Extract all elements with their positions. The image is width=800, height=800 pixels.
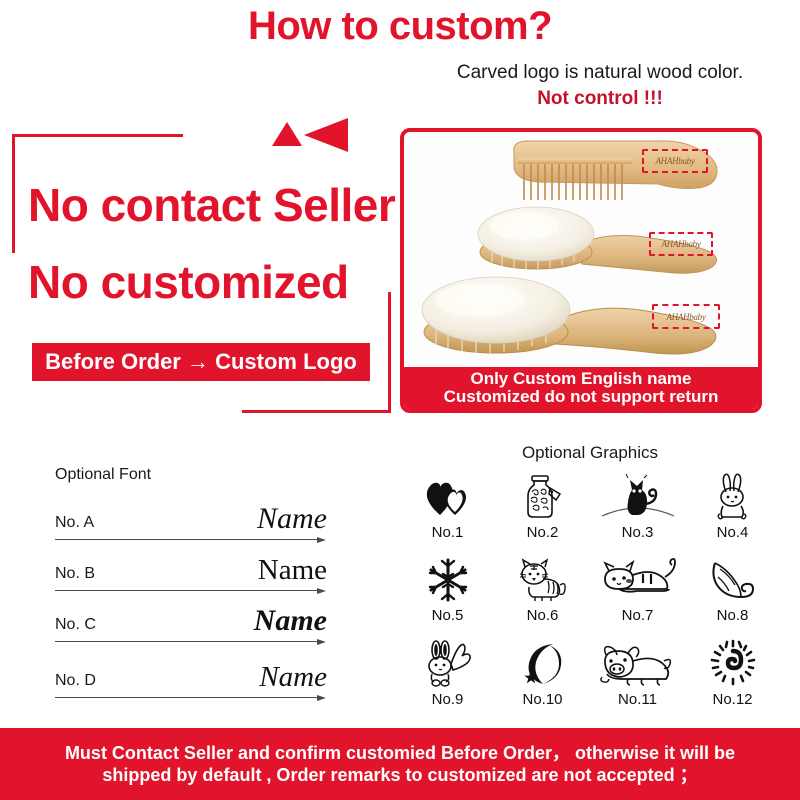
crescent-moon-star-icon xyxy=(519,639,567,689)
graphic-label-1: No.1 xyxy=(432,524,464,541)
sun-spiral-icon xyxy=(707,639,759,689)
graphic-option-7[interactable]: No.7 xyxy=(590,555,685,638)
font-row-b-label: No. B xyxy=(55,565,95,583)
tiger-icon xyxy=(515,555,571,605)
font-row-c-label: No. C xyxy=(55,616,96,634)
before-order-badge: Before Order → Custom Logo xyxy=(32,343,370,381)
engrave-area-comb: AHAHbaby xyxy=(642,149,708,173)
graphic-option-10[interactable]: No.10 xyxy=(495,639,590,722)
piglet-icon xyxy=(598,639,678,689)
snowflake-icon xyxy=(425,555,471,605)
graphic-option-3[interactable]: No.3 xyxy=(590,472,685,555)
graphic-option-4[interactable]: No.4 xyxy=(685,472,780,555)
headline-no-customized: No customized xyxy=(28,255,349,309)
graphic-label-3: No.3 xyxy=(622,524,654,541)
waving-bunny-icon xyxy=(422,639,474,689)
graphic-label-4: No.4 xyxy=(717,524,749,541)
engrave-text-small-brush: AHAHbaby xyxy=(661,239,700,249)
optional-graphics-title: Optional Graphics xyxy=(440,443,740,463)
font-row-d-rule xyxy=(55,697,320,698)
not-control-warning: Not control !!! xyxy=(410,88,790,110)
graphic-option-1[interactable]: No.1 xyxy=(400,472,495,555)
graphic-option-6[interactable]: No.6 xyxy=(495,555,590,638)
infographic-page: How to custom? Carved logo is natural wo… xyxy=(0,0,800,800)
panel-caption-line-2: Customized do not support return xyxy=(444,388,719,406)
panel-caption-line-1: Only Custom English name xyxy=(470,370,691,388)
banner-line-1: Must Contact Seller and confirm customie… xyxy=(65,742,735,765)
engrave-text-large-brush: AHAHbaby xyxy=(666,312,705,322)
bottom-warning-banner: Must Contact Seller and confirm customie… xyxy=(0,728,800,800)
graphic-option-12[interactable]: No.12 xyxy=(685,639,780,722)
font-row-b[interactable]: No. B Name xyxy=(55,541,331,591)
font-sample-d: Name xyxy=(259,661,327,694)
arrow-right-icon xyxy=(317,695,326,701)
engrave-area-large-brush: AHAHbaby xyxy=(652,304,720,329)
graphic-option-11[interactable]: No.11 xyxy=(590,639,685,722)
graphic-label-12: No.12 xyxy=(712,691,752,708)
product-photo-panel: AHAHbaby xyxy=(400,128,762,413)
graphic-option-2[interactable]: No.2 xyxy=(495,472,590,555)
font-row-c[interactable]: No. C Name xyxy=(55,592,331,642)
font-row-c-rule xyxy=(55,641,320,642)
arrow-right-icon xyxy=(317,639,326,645)
graphic-label-8: No.8 xyxy=(717,607,749,624)
angel-wing-icon xyxy=(707,555,759,605)
graphic-label-7: No.7 xyxy=(622,607,654,624)
engrave-text-comb: AHAHbaby xyxy=(655,156,694,166)
graphic-option-5[interactable]: No.5 xyxy=(400,555,495,638)
font-row-a-rule xyxy=(55,539,320,540)
optional-font-title: Optional Font xyxy=(55,466,151,484)
font-sample-b: Name xyxy=(258,554,327,587)
banner-line-2: shipped by default , Order remarks to cu… xyxy=(102,764,697,787)
graphic-option-8[interactable]: No.8 xyxy=(685,555,780,638)
font-row-d[interactable]: No. D Name xyxy=(55,648,331,698)
page-title: How to custom? xyxy=(0,4,800,49)
carved-logo-note: Carved logo is natural wood color. xyxy=(410,62,790,84)
graphic-label-10: No.10 xyxy=(522,691,562,708)
font-row-b-rule xyxy=(55,590,320,591)
triangle-up-icon xyxy=(272,122,302,146)
product-photo: AHAHbaby xyxy=(404,132,758,370)
font-sample-c: Name xyxy=(254,604,327,638)
standing-bunny-icon xyxy=(711,472,755,522)
font-row-d-label: No. D xyxy=(55,672,96,690)
graphic-label-6: No.6 xyxy=(527,607,559,624)
two-hearts-icon xyxy=(424,472,472,522)
optional-graphics-grid: No.1 xyxy=(400,472,780,722)
candy-jar-icon xyxy=(522,472,564,522)
font-row-a[interactable]: No. A Name xyxy=(55,490,331,540)
panel-caption: Only Custom English name Customized do n… xyxy=(404,367,758,409)
black-cat-on-hill-icon xyxy=(598,472,678,522)
graphic-label-9: No.9 xyxy=(432,691,464,708)
font-row-a-label: No. A xyxy=(55,514,94,532)
graphic-label-5: No.5 xyxy=(432,607,464,624)
lying-cat-icon xyxy=(595,555,681,605)
graphic-label-2: No.2 xyxy=(527,524,559,541)
triangle-left-icon xyxy=(304,118,348,152)
headline-no-contact-seller: No contact Seller xyxy=(28,178,395,232)
font-sample-a: Name xyxy=(257,502,327,536)
engrave-area-small-brush: AHAHbaby xyxy=(649,232,713,256)
graphic-label-11: No.11 xyxy=(618,691,657,708)
graphic-option-9[interactable]: No.9 xyxy=(400,639,495,722)
